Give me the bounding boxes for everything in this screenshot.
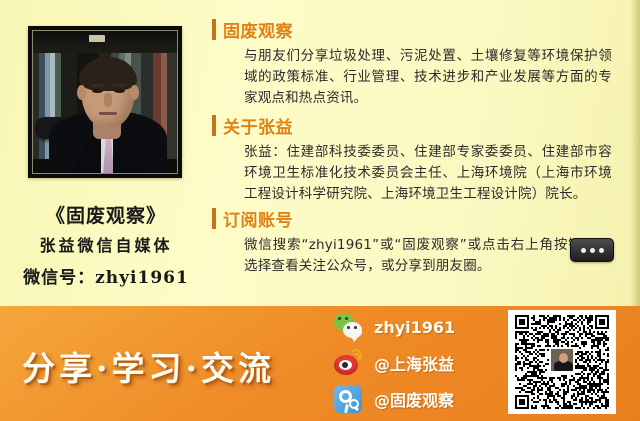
right-column: 固废观察 与朋友们分享垃圾处理、污泥处置、土壤修复等环境保护领域的政策标准、行业… [212, 0, 640, 306]
dot-icon [590, 248, 595, 253]
section-title: 固废观察 [223, 17, 293, 42]
social-label: @固废观察 [374, 387, 454, 411]
left-column: 《固废观察》 张益微信自媒体 微信号：zhyi1961 [0, 0, 212, 306]
section-body: 与朋友们分享垃圾处理、污泥处置、土壤修复等环境保护领域的政策标准、行业管理、技术… [244, 46, 612, 109]
section-header: 订阅账号 [212, 206, 640, 230]
section-accent-bar [212, 19, 216, 40]
social-label: @上海张益 [374, 351, 454, 375]
social-row-weibo[interactable]: @上海张益 [334, 348, 504, 378]
wechat-qr-code[interactable] [508, 310, 616, 414]
portrait-photo [32, 30, 178, 174]
banner-slogan: 分享·学习·交流 [22, 342, 275, 390]
mouth [99, 112, 117, 115]
wechat-profile-card: 《固废观察》 张益微信自媒体 微信号：zhyi1961 固废观察 与朋友们分享垃… [0, 0, 640, 421]
shelf-top-shadow [33, 31, 177, 53]
right-eyebrow [113, 84, 126, 87]
right-eye [114, 89, 125, 93]
left-eyebrow [91, 84, 104, 87]
more-options-button[interactable] [570, 238, 614, 262]
section-body: 微信搜索“zhyi1961”或“固废观察”或点击右上角按钮选择查看关注公众号，或… [244, 235, 582, 277]
section-accent-bar [212, 115, 216, 136]
social-row-wechat[interactable]: zhyi1961 [334, 312, 504, 342]
left-ear [77, 85, 86, 100]
wechat-id-label: 微信号：zhyi1961 [0, 263, 212, 288]
zhihu-icon [334, 385, 362, 413]
left-eye [92, 89, 103, 93]
section-header: 关于张益 [212, 113, 640, 137]
section-header: 固废观察 [212, 17, 640, 41]
nose [104, 93, 112, 107]
account-subtitle: 张益微信自媒体 [0, 232, 212, 256]
social-accounts-list: zhyi1961 @上海张益 @固废观察 [334, 306, 504, 421]
ceiling-light [89, 35, 105, 42]
section-guanfei-observation: 固废观察 与朋友们分享垃圾处理、污泥处置、土壤修复等环境保护领域的政策标准、行业… [212, 17, 640, 109]
dot-icon [599, 248, 604, 253]
account-title: 《固废观察》 [0, 201, 212, 228]
right-ear [130, 85, 139, 100]
section-subscribe-account: 订阅账号 微信搜索“zhyi1961”或“固废观察”或点击右上角按钮选择查看关注… [212, 206, 640, 277]
section-title: 关于张益 [223, 113, 293, 138]
weibo-icon [334, 349, 362, 377]
dot-icon [581, 248, 586, 253]
social-label: zhyi1961 [374, 318, 455, 337]
wechat-icon [334, 313, 362, 341]
portrait-photo-frame [28, 26, 182, 178]
section-body: 张益：住建部科技委委员、住建部专家委委员、住建部市容环境卫生标准化技术委员会主任… [244, 142, 612, 205]
social-row-zhihu[interactable]: @固废观察 [334, 384, 504, 414]
section-title: 订阅账号 [223, 206, 293, 231]
qr-code-matrix [513, 315, 611, 409]
qr-center-portrait [549, 347, 575, 373]
section-accent-bar [212, 208, 216, 229]
section-about-zhangyi: 关于张益 张益：住建部科技委委员、住建部专家委委员、住建部市容环境卫生标准化技术… [212, 113, 640, 205]
